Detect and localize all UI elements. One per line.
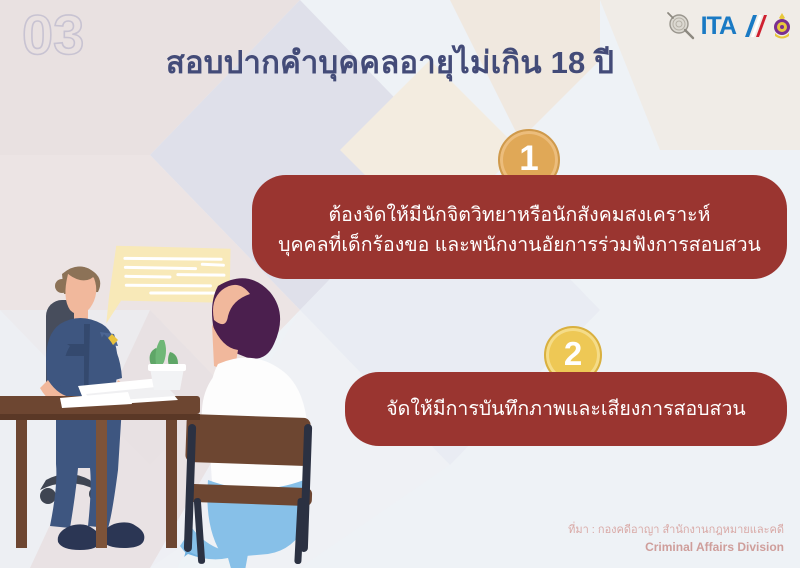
source-attribution-en: Criminal Affairs Division [568, 539, 784, 556]
step-badge-1-number: 1 [519, 139, 538, 179]
police-interview-illustration [0, 228, 340, 568]
page-title: สอบปากคำบุคคลอายุไม่เกิน 18 ปี [110, 38, 670, 86]
thai-garuda-emblem-icon [772, 11, 792, 41]
step-badge-2-number: 2 [564, 335, 582, 373]
step-card-1-line-2: บุคคลที่เด็กร้องขอ และพนักงานอัยการร่วมฟ… [278, 230, 761, 260]
logo-bar: ITA [666, 6, 792, 46]
section-number-text: 03 [22, 4, 84, 66]
step-card-2-line-1: จัดให้มีการบันทึกภาพและเสียงการสอบสวน [386, 394, 745, 424]
infographic-canvas: 03 สอบปากคำบุคคลอายุไม่เกิน 18 ปี ITA [0, 0, 800, 568]
source-attribution: ที่มา : กองคดีอาญา สำนักงานกฎหมายและคดี … [568, 522, 784, 556]
step-card-1: ต้องจัดให้มีนักจิตวิทยาหรือนักสังคมสงเคร… [252, 175, 787, 279]
step-card-2: จัดให้มีการบันทึกภาพและเสียงการสอบสวน [345, 372, 787, 446]
step-card-1-line-1: ต้องจัดให้มีนักจิตวิทยาหรือนักสังคมสงเคร… [278, 200, 761, 230]
ita-logo-text: ITA [701, 14, 736, 39]
magnifying-glass-icon [666, 11, 696, 41]
source-attribution-th: ที่มา : กองคดีอาญา สำนักงานกฎหมายและคดี [568, 522, 784, 539]
potted-cactus-icon [148, 340, 186, 390]
ita-stripes-icon [741, 11, 767, 41]
